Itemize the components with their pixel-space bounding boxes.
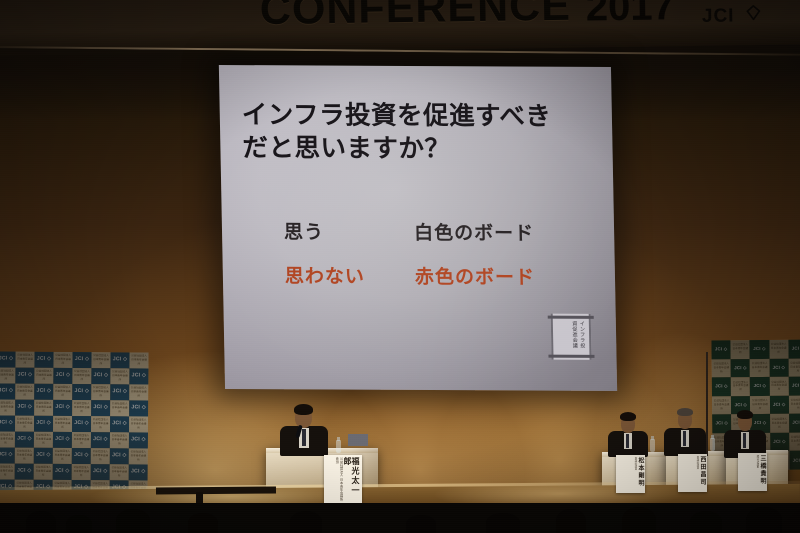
panelist-2-tie — [683, 431, 686, 446]
water-bottle-moderator — [336, 440, 341, 453]
sponsor-text-tile: 公益社団法人 日本青年会議所 — [34, 368, 53, 384]
moderator-hair — [294, 404, 313, 415]
sponsor-text-tile: 公益社団法人 日本青年会議所 — [91, 416, 110, 432]
jci-logo-icon: JCI ◇ — [55, 437, 70, 442]
sponsor-tile-text: 公益社団法人 日本青年会議所 — [110, 466, 129, 478]
jci-logo-icon: JCI ◇ — [56, 373, 71, 378]
conference-photo-scene: CONFERENCE 2017 JCI インフラ投資を促進すべき だと思いますか… — [0, 0, 800, 533]
panelist-3-figure — [724, 410, 768, 454]
jci-logo-icon: JCI ◇ — [792, 384, 800, 389]
sponsor-tile-text: 公益社団法人 日本青年会議所 — [91, 386, 110, 398]
sponsor-text-tile: 公益社団法人 日本青年会議所 — [789, 432, 800, 451]
jci-logo-icon: JCI ◇ — [793, 458, 800, 463]
sponsor-tile-text: 公益社団法人 日本青年会議所 — [789, 399, 800, 411]
sponsor-jci-logo-tile: JCI ◇ — [72, 352, 91, 368]
jci-logo-icon: JCI ◇ — [36, 389, 51, 394]
slide-option-2-answer: 思わない — [285, 261, 366, 288]
sponsor-tile-text: 公益社団法人 日本青年会議所 — [53, 418, 72, 430]
jci-logo-icon: JCI ◇ — [131, 470, 146, 475]
sponsor-jci-logo-tile: JCI ◇ — [789, 414, 800, 433]
projection-screen: インフラ投資を促進すべき だと思いますか？ 思う 白色のボード 思わない 赤色の… — [219, 65, 617, 391]
vertical-scroll-graphic: インフラ投資促進会議 — [551, 314, 592, 360]
sponsor-jci-logo-tile: JCI ◇ — [110, 352, 129, 368]
sponsor-tile-text: 公益社団法人 日本青年会議所 — [770, 417, 789, 429]
audience-head — [690, 511, 722, 533]
sponsor-jci-logo-tile: JCI ◇ — [129, 432, 148, 448]
sponsor-jci-logo-tile: JCI ◇ — [711, 340, 730, 359]
sponsor-tile-text: 公益社団法人 日本青年会議所 — [15, 386, 34, 398]
sponsor-tile-text: 公益社団法人 日本青年会議所 — [72, 466, 91, 478]
sponsor-tile-text: 公益社団法人 日本青年会議所 — [15, 354, 34, 366]
jci-logo-icon: JCI ◇ — [773, 440, 785, 445]
sponsor-tile-text: 公益社団法人 日本青年会議所 — [788, 362, 800, 374]
sponsor-jci-logo-tile: JCI ◇ — [91, 432, 110, 448]
panelist-2-hair — [677, 408, 693, 416]
sponsor-jci-logo-tile: JCI ◇ — [110, 448, 129, 464]
slide-question-line-1: インフラ投資を促進すべき — [241, 99, 594, 133]
sponsor-tile-text: 公益社団法人 日本青年会議所 — [731, 344, 750, 356]
sponsor-text-tile: 公益社団法人 日本青年会議所 — [53, 416, 72, 432]
audience-head — [188, 513, 218, 533]
sponsor-jci-logo-tile: JCI ◇ — [110, 384, 129, 400]
sponsor-text-tile: 公益社団法人 日本青年会議所 — [0, 399, 15, 415]
jci-logo-icon: JCI ◇ — [112, 454, 127, 459]
sponsor-jci-logo-tile: JCI ◇ — [129, 368, 148, 384]
sponsor-jci-logo-tile: JCI ◇ — [750, 340, 769, 359]
sponsor-jci-logo-tile: JCI ◇ — [770, 433, 789, 452]
sponsor-jci-logo-tile: JCI ◇ — [34, 448, 53, 464]
jci-logo-icon: JCI ◇ — [0, 453, 13, 458]
sponsor-text-tile: 公益社団法人 日本青年会議所 — [53, 384, 72, 400]
panelist-2-figure — [664, 408, 708, 452]
nameplate-panelist-1-name: 松本剛明 — [637, 457, 643, 487]
jci-logo-icon: JCI ◇ — [753, 347, 765, 352]
jci-logo-icon: JCI ◇ — [93, 406, 108, 411]
sponsor-text-tile: 公益社団法人 日本青年会議所 — [129, 416, 148, 432]
sponsor-text-tile: 公益社団法人 日本青年会議所 — [91, 352, 110, 368]
jci-logo-icon: JCI ◇ — [0, 421, 13, 426]
sponsor-text-tile: 公益社団法人 日本青年会議所 — [34, 464, 53, 480]
sponsor-text-tile: 公益社団法人 日本青年会議所 — [769, 377, 788, 396]
audience-head — [26, 511, 56, 533]
sponsor-tile-text: 公益社団法人 日本青年会議所 — [110, 402, 129, 414]
sponsor-tile-text: 公益社団法人 日本青年会議所 — [53, 354, 72, 366]
sponsor-tile-text: 公益社団法人 日本青年会議所 — [731, 381, 750, 393]
sponsor-tile-text: 公益社団法人 日本青年会議所 — [53, 386, 72, 398]
panelist-1-tie — [626, 434, 629, 448]
sponsor-tile-text: 公益社団法人 日本青年会議所 — [110, 370, 129, 382]
sponsor-jci-logo-tile: JCI ◇ — [750, 377, 769, 396]
sponsor-text-tile: 公益社団法人 日本青年会議所 — [91, 384, 110, 400]
moderator-tie — [302, 429, 306, 446]
slide-question-line-2: だと思いますか？ — [242, 132, 595, 166]
sponsor-text-tile: 公益社団法人 日本青年会議所 — [129, 352, 148, 368]
sponsor-jci-logo-tile: JCI ◇ — [731, 359, 750, 378]
sponsor-jci-logo-tile: JCI ◇ — [0, 351, 16, 367]
jci-logo-icon: JCI ◇ — [773, 403, 785, 408]
sponsor-text-tile: 公益社団法人 日本青年会議所 — [15, 352, 34, 368]
audience-silhouettes — [0, 485, 800, 533]
jci-logo-icon: JCI ◇ — [0, 357, 13, 362]
sponsor-text-tile: 公益社団法人 日本青年会議所 — [53, 448, 72, 464]
jci-logo-icon: JCI ◇ — [74, 453, 89, 458]
jci-logo-icon: JCI ◇ — [74, 389, 89, 394]
slide-option-1-answer: 思う — [284, 217, 325, 244]
audience-head — [66, 515, 92, 533]
sponsor-text-tile: 公益社団法人 日本青年会議所 — [34, 400, 53, 416]
sponsor-text-tile: 公益社団法人 日本青年会議所 — [72, 368, 91, 384]
jci-logo-icon: JCI ◇ — [734, 366, 746, 371]
sponsor-text-tile: 公益社団法人 日本青年会議所 — [15, 384, 34, 400]
sponsor-text-tile: 公益社団法人 日本青年会議所 — [731, 377, 750, 396]
sponsor-jci-logo-tile: JCI ◇ — [72, 416, 91, 432]
audience-head — [116, 509, 150, 533]
sponsor-tile-text: 公益社団法人 日本青年会議所 — [91, 418, 110, 430]
sponsor-tile-text: 公益社団法人 日本青年会議所 — [712, 362, 731, 374]
sponsor-tile-text: 公益社団法人 日本青年会議所 — [0, 370, 15, 382]
banner-title-text: CONFERENCE — [259, 0, 571, 35]
sponsor-jci-logo-tile: JCI ◇ — [34, 384, 53, 400]
nameplate-panelist-3-name: 三橋貴明 — [759, 455, 765, 485]
sponsor-text-tile: 公益社団法人 日本青年会議所 — [72, 464, 91, 480]
audience-head — [406, 515, 436, 533]
jci-logo-icon: JCI ◇ — [131, 438, 146, 443]
jci-logo-icon: JCI ◇ — [792, 347, 800, 352]
sponsor-tile-text: 公益社団法人 日本青年会議所 — [769, 380, 788, 392]
slide-option-1-board: 白色のボード — [414, 218, 535, 246]
sponsor-text-tile: 公益社団法人 日本青年会議所 — [0, 463, 15, 479]
jci-logo-icon: JCI ◇ — [754, 384, 766, 389]
slide-option-2-board: 赤色のボード — [415, 262, 536, 290]
sponsor-jci-logo-tile: JCI ◇ — [91, 368, 110, 384]
nameplate-panelist-2-name: 西田昌司 — [699, 456, 705, 486]
banner-year-text: 2017 — [586, 0, 676, 30]
sponsor-tile-text: 公益社団法人 日本青年会議所 — [129, 419, 148, 431]
jci-logo-icon: JCI ◇ — [792, 421, 800, 426]
sponsor-tile-text: 公益社団法人 日本青年会議所 — [129, 387, 148, 399]
audience-head — [290, 511, 322, 533]
jci-logo-icon: JCI ◇ — [94, 374, 109, 379]
jci-logo-icon: JCI ◇ — [74, 421, 89, 426]
sponsor-text-tile: 公益社団法人 日本青年会議所 — [15, 416, 34, 432]
jci-logo-icon: JCI ◇ — [112, 390, 127, 395]
jci-logo-icon: JCI ◇ — [75, 357, 90, 362]
sponsor-tile-text: 公益社団法人 日本青年会議所 — [750, 362, 769, 374]
jci-logo-icon: JCI ◇ — [17, 469, 32, 474]
scroll-bottom-bar — [548, 355, 594, 358]
sponsor-jci-logo-tile: JCI ◇ — [91, 464, 110, 480]
jci-logo-icon: JCI ◇ — [37, 357, 52, 362]
sponsor-jci-logo-tile: JCI ◇ — [15, 464, 34, 480]
scroll-graphic-text: インフラ投資促進会議 — [557, 321, 586, 353]
audience-head — [556, 509, 586, 533]
sponsor-jci-logo-tile: JCI ◇ — [129, 464, 148, 480]
sponsor-jci-logo-tile: JCI ◇ — [770, 395, 789, 414]
jci-logo-icon: JCI ◇ — [113, 358, 128, 363]
jci-logo-icon: JCI ◇ — [93, 470, 108, 475]
sponsor-jci-logo-tile: JCI ◇ — [788, 340, 800, 359]
banner-org-mark: JCI — [702, 5, 735, 27]
moderator-figure — [278, 404, 334, 454]
sponsor-text-tile: 公益社団法人 日本青年会議所 — [72, 432, 91, 448]
panelist-3-tie — [743, 433, 746, 448]
sponsor-text-tile: 公益社団法人 日本青年会議所 — [0, 367, 15, 383]
sponsor-text-tile: 公益社団法人 日本青年会議所 — [770, 414, 789, 433]
jci-logo-icon: JCI ◇ — [18, 373, 33, 378]
sponsor-tile-text: 公益社団法人 日本青年会議所 — [0, 434, 15, 446]
sponsor-text-tile: 公益社団法人 日本青年会議所 — [750, 358, 769, 377]
sponsor-tile-text: 公益社団法人 日本青年会議所 — [15, 450, 34, 462]
laptop-screen — [348, 434, 368, 446]
sponsor-text-tile: 公益社団法人 日本青年会議所 — [712, 359, 731, 378]
sponsor-text-tile: 公益社団法人 日本青年会議所 — [53, 352, 72, 368]
sponsor-jci-logo-tile: JCI ◇ — [72, 384, 91, 400]
jci-logo-icon: JCI ◇ — [715, 385, 727, 390]
diamond-icon — [746, 5, 761, 20]
jci-logo-icon: JCI ◇ — [131, 406, 146, 411]
panelist-1-hair — [620, 412, 636, 421]
jci-logo-icon: JCI ◇ — [773, 365, 785, 370]
sponsor-jci-logo-tile: JCI ◇ — [0, 383, 15, 399]
sponsor-jci-logo-tile: JCI ◇ — [72, 448, 91, 464]
scroll-top-bar — [548, 316, 594, 319]
sponsor-text-tile: 公益社団法人 日本青年会議所 — [110, 464, 129, 480]
sponsor-text-tile: 公益社団法人 日本青年会議所 — [731, 340, 750, 359]
jci-logo-icon: JCI ◇ — [0, 389, 13, 394]
sponsor-text-tile: 公益社団法人 日本青年会議所 — [15, 448, 34, 464]
sponsor-text-tile: 公益社団法人 日本青年会議所 — [110, 432, 129, 448]
sponsor-jci-logo-tile: JCI ◇ — [15, 368, 34, 384]
sponsor-tile-text: 公益社団法人 日本青年会議所 — [91, 354, 110, 366]
jci-logo-icon: JCI ◇ — [17, 437, 32, 442]
sponsor-jci-logo-tile: JCI ◇ — [15, 432, 34, 448]
audience-head — [746, 507, 782, 533]
jci-logo-icon: JCI ◇ — [17, 405, 32, 410]
audience-head — [622, 507, 656, 533]
jci-logo-icon: JCI ◇ — [36, 453, 51, 458]
sponsor-jci-logo-tile: JCI ◇ — [53, 432, 72, 448]
sponsor-jci-logo-tile: JCI ◇ — [91, 400, 110, 416]
jci-logo-icon: JCI ◇ — [93, 438, 108, 443]
sponsor-jci-logo-tile: JCI ◇ — [0, 415, 15, 431]
jci-logo-icon: JCI ◇ — [132, 374, 147, 379]
sponsor-jci-logo-tile: JCI ◇ — [53, 368, 72, 384]
jci-logo-icon: JCI ◇ — [36, 421, 51, 426]
sponsor-text-tile: 公益社団法人 日本青年会議所 — [110, 368, 129, 384]
sponsor-text-tile: 公益社団法人 日本青年会議所 — [129, 448, 148, 464]
sponsor-tile-text: 公益社団法人 日本青年会議所 — [15, 418, 34, 430]
sponsor-tile-text: 公益社団法人 日本青年会議所 — [129, 355, 148, 367]
jci-logo-icon: JCI ◇ — [55, 469, 70, 474]
sponsor-jci-logo-tile: JCI ◇ — [53, 464, 72, 480]
sponsor-tile-text: 公益社団法人 日本青年会議所 — [72, 402, 91, 414]
water-bottle-2 — [710, 438, 715, 451]
sponsor-jci-logo-tile: JCI ◇ — [110, 416, 129, 432]
sponsor-tile-text: 公益社団法人 日本青年会議所 — [91, 450, 110, 462]
sponsor-tile-text: 公益社団法人 日本青年会議所 — [0, 466, 15, 478]
sponsor-text-tile: 公益社団法人 日本青年会議所 — [788, 358, 800, 377]
sponsor-jci-logo-tile: JCI ◇ — [789, 377, 800, 396]
sponsor-tile-text: 公益社団法人 日本青年会議所 — [34, 434, 53, 446]
panelist-3-hair — [737, 410, 753, 419]
audience-head — [486, 513, 520, 533]
sponsor-text-tile: 公益社団法人 日本青年会議所 — [34, 432, 53, 448]
sponsor-tile-text: 公益社団法人 日本青年会議所 — [72, 434, 91, 446]
sponsor-jci-logo-tile: JCI ◇ — [769, 358, 788, 377]
sponsor-tile-text: 公益社団法人 日本青年会議所 — [72, 370, 91, 382]
slide-question: インフラ投資を促進すべき だと思いますか？ — [241, 99, 594, 166]
sponsor-jci-logo-tile: JCI ◇ — [712, 377, 731, 396]
sponsor-text-tile: 公益社団法人 日本青年会議所 — [91, 448, 110, 464]
sponsor-text-tile: 公益社団法人 日本青年会議所 — [72, 400, 91, 416]
sponsor-jci-logo-tile: JCI ◇ — [15, 400, 34, 416]
sponsor-text-tile: 公益社団法人 日本青年会議所 — [789, 395, 800, 414]
sponsor-tile-text: 公益社団法人 日本青年会議所 — [129, 451, 148, 463]
water-bottle-1 — [650, 439, 655, 452]
panelist-1-figure — [608, 412, 650, 454]
sponsor-tile-text: 公益社団法人 日本青年会議所 — [34, 466, 53, 478]
jci-logo-icon: JCI ◇ — [55, 405, 70, 410]
sponsor-jci-logo-tile: JCI ◇ — [789, 451, 800, 470]
sponsor-tile-text: 公益社団法人 日本青年会議所 — [34, 402, 53, 414]
sponsor-text-tile: 公益社団法人 日本青年会議所 — [0, 431, 15, 447]
sponsor-text-tile: 公益社団法人 日本青年会議所 — [110, 400, 129, 416]
sponsor-tile-text: 公益社団法人 日本青年会議所 — [769, 343, 788, 355]
sponsor-text-tile: 公益社団法人 日本青年会議所 — [769, 340, 788, 359]
sponsor-tile-text: 公益社団法人 日本青年会議所 — [0, 402, 15, 414]
sponsor-tile-text: 公益社団法人 日本青年会議所 — [34, 370, 53, 382]
sponsor-jci-logo-tile: JCI ◇ — [53, 400, 72, 416]
sponsor-jci-logo-tile: JCI ◇ — [0, 447, 15, 463]
jci-logo-icon: JCI ◇ — [735, 403, 747, 408]
sponsor-tile-text: 公益社団法人 日本青年会議所 — [53, 450, 72, 462]
sponsor-tile-text: 公益社団法人 日本青年会議所 — [789, 436, 800, 448]
sponsor-jci-logo-tile: JCI ◇ — [129, 400, 148, 416]
jci-logo-icon: JCI ◇ — [715, 347, 727, 352]
sponsor-jci-logo-tile: JCI ◇ — [34, 416, 53, 432]
sponsor-tile-text: 公益社団法人 日本青年会議所 — [110, 434, 129, 446]
jci-logo-icon: JCI ◇ — [112, 422, 127, 427]
sponsor-text-tile: 公益社団法人 日本青年会議所 — [129, 384, 148, 400]
sponsor-jci-logo-tile: JCI ◇ — [34, 352, 53, 368]
